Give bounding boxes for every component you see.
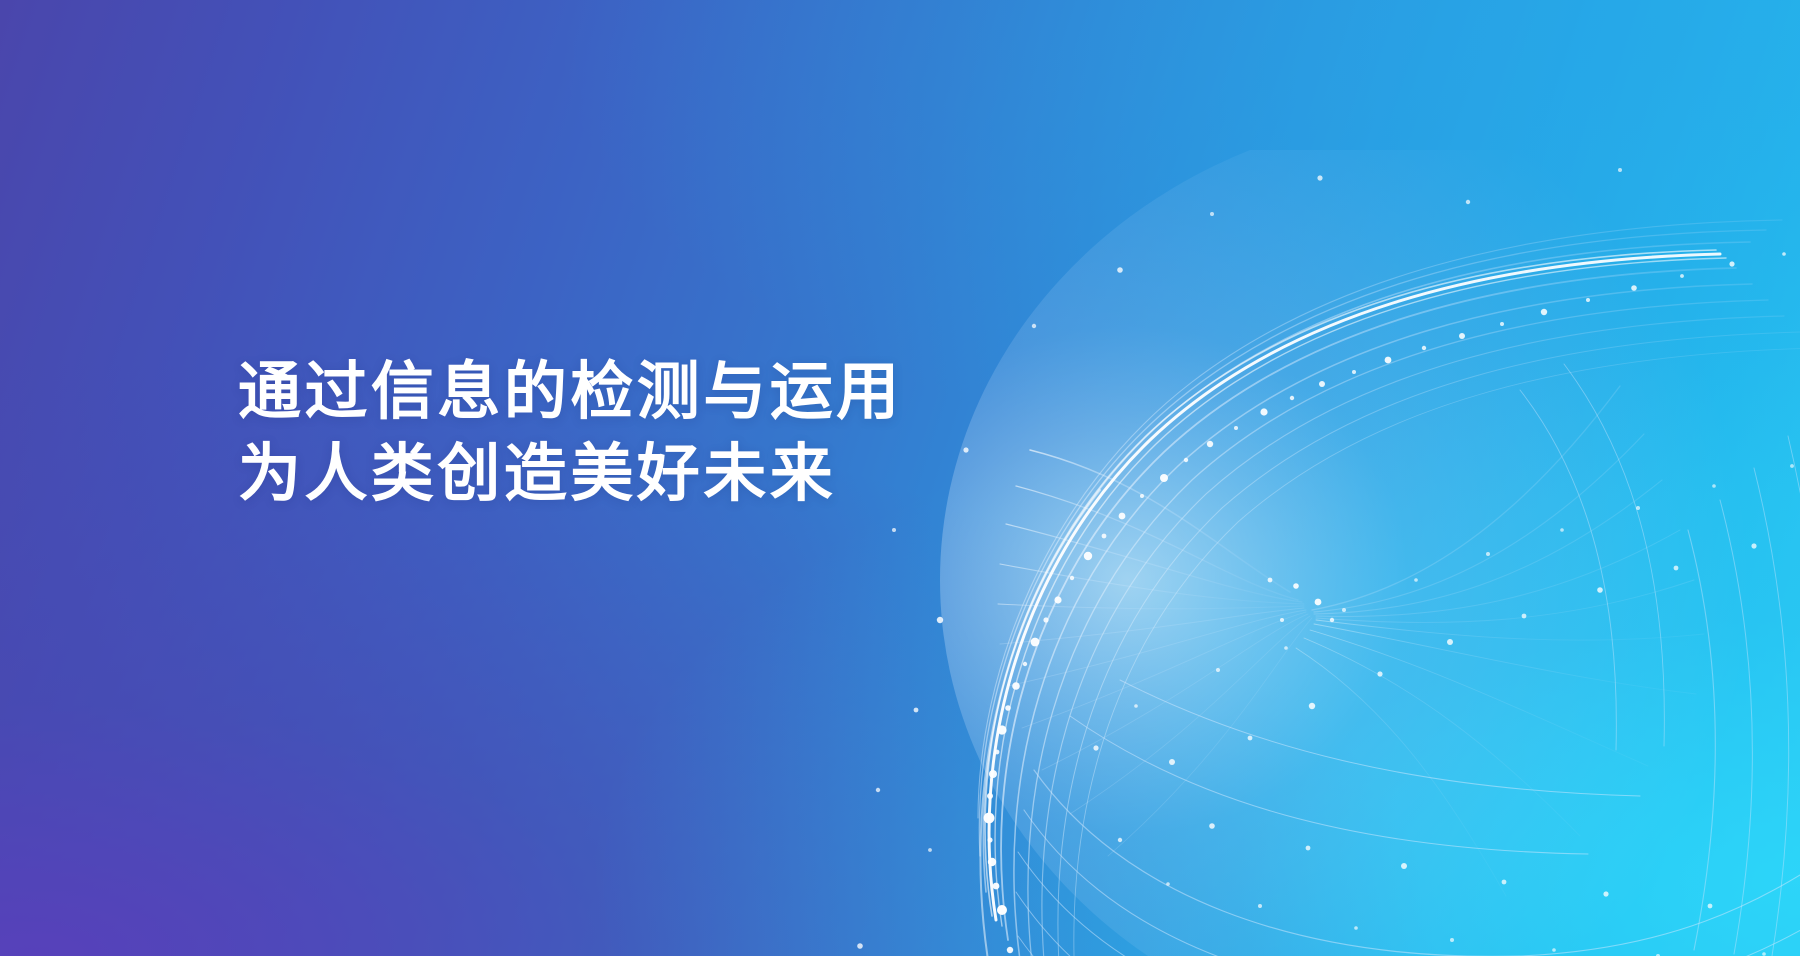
headline-line-2: 为人类创造美好未来 xyxy=(238,434,903,516)
headline-line-1: 通过信息的检测与运用 xyxy=(238,352,903,434)
hero-headline: 通过信息的检测与运用 为人类创造美好未来 xyxy=(238,352,903,516)
hero-banner: 通过信息的检测与运用 为人类创造美好未来 xyxy=(0,0,1800,956)
